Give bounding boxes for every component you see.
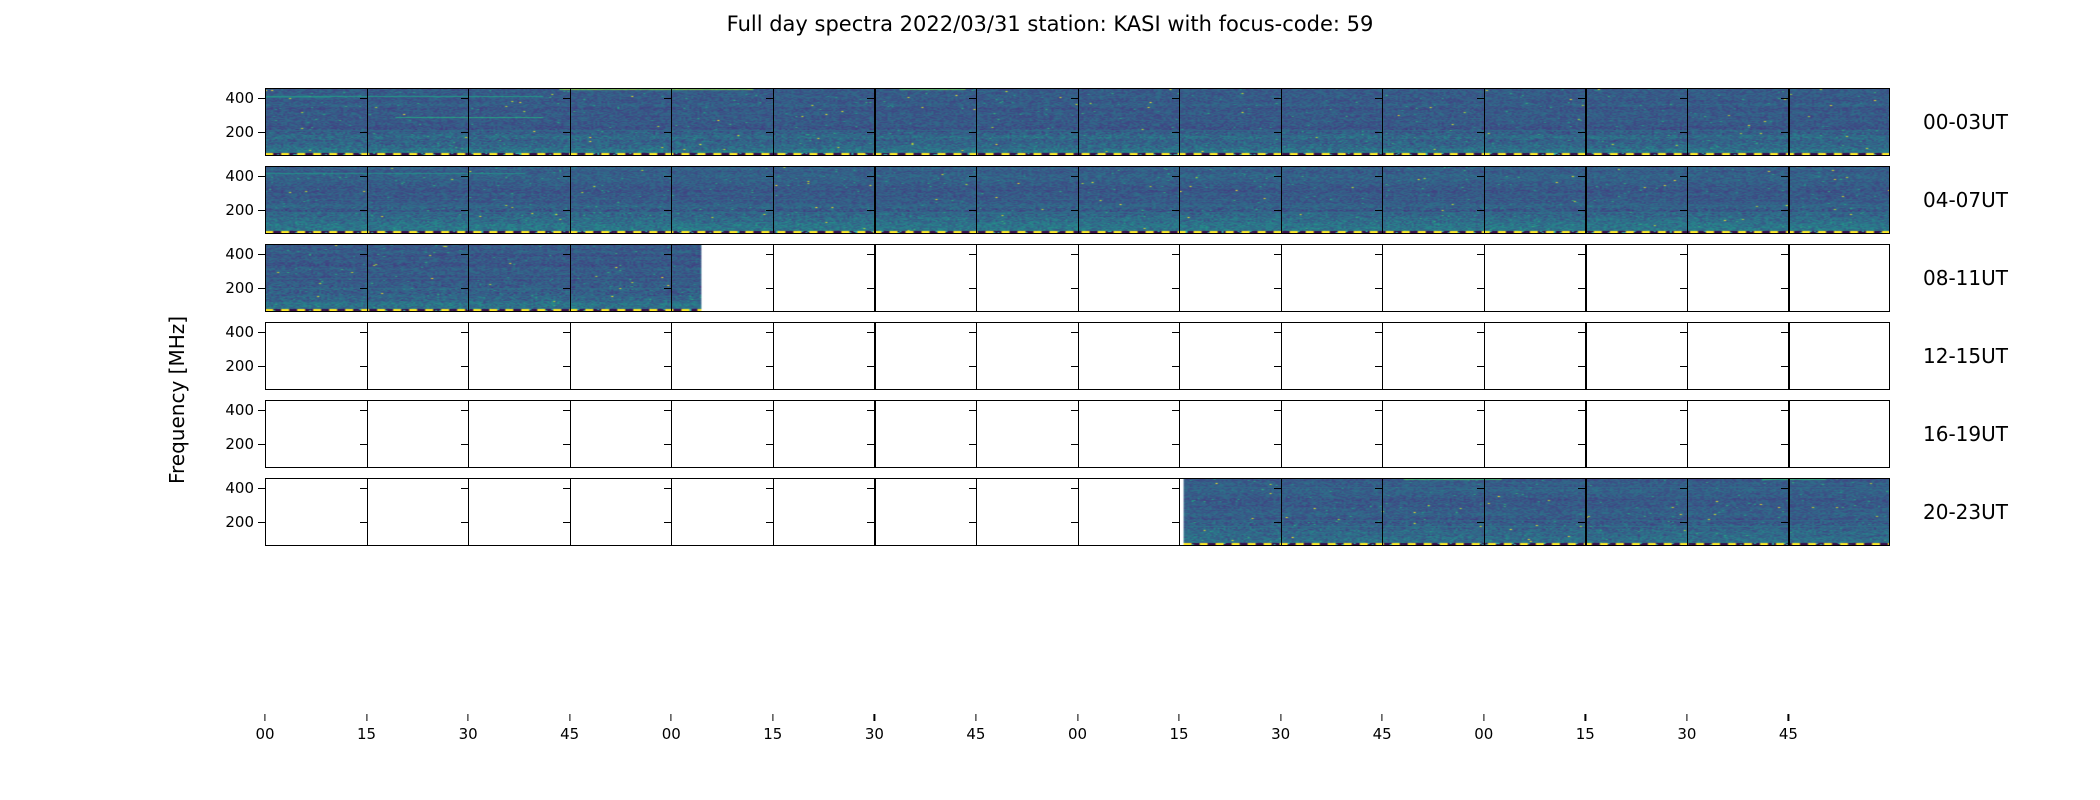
subpanel-separator (570, 478, 571, 546)
y-tick-label: 400 (225, 89, 254, 107)
y-tick-mark-inner (969, 410, 976, 411)
y-tick-mark-inner (1071, 488, 1078, 489)
y-tick-mark-inner (766, 444, 773, 445)
subpanel-separator (570, 88, 571, 156)
y-tick-mark-inner (867, 522, 874, 523)
y-tick-mark-inner (969, 132, 976, 133)
y-tick-mark-inner (1071, 210, 1078, 211)
y-tick-mark-inner (1375, 444, 1382, 445)
subpanel-separator (1078, 244, 1079, 312)
subpanel-separator (671, 88, 672, 156)
y-tick-mark-inner (1172, 488, 1179, 489)
y-tick-mark-inner (1477, 288, 1484, 289)
x-tick-mark (1077, 714, 1078, 721)
y-tick-mark-inner (1375, 254, 1382, 255)
subpanel-separator (1788, 244, 1789, 312)
x-tick-label: 30 (1677, 725, 1696, 743)
y-tick-mark-inner (1071, 254, 1078, 255)
x-tick-label: 30 (459, 725, 478, 743)
y-tick-mark-inner (1071, 176, 1078, 177)
x-tick-label: 15 (1170, 725, 1189, 743)
y-tick-mark-inner (1172, 444, 1179, 445)
subpanel-separator (367, 88, 368, 156)
y-tick-mark-inner (360, 288, 367, 289)
y-tick-mark-inner (766, 98, 773, 99)
y-tick-mark-inner (867, 132, 874, 133)
y-tick-mark-inner (1477, 410, 1484, 411)
row-time-label: 20-23UT (1923, 500, 2008, 524)
x-tick-label: 45 (966, 725, 985, 743)
y-tick-mark-inner (461, 132, 468, 133)
figure-title: Full day spectra 2022/03/31 station: KAS… (0, 12, 2100, 36)
y-tick-mark-inner (664, 332, 671, 333)
subpanel-separator (1382, 166, 1383, 234)
y-tick-mark-inner (1375, 410, 1382, 411)
y-tick-mark-inner (1375, 132, 1382, 133)
y-tick-mark-inner (563, 332, 570, 333)
x-tick-mark (1686, 714, 1687, 721)
x-tick-mark (1382, 714, 1383, 721)
y-tick-mark-inner (1172, 332, 1179, 333)
x-tick-mark (1788, 714, 1789, 721)
y-tick-mark-inner (360, 98, 367, 99)
y-tick-mark-inner (1274, 444, 1281, 445)
y-tick-mark (258, 410, 265, 411)
subpanel-separator (1281, 88, 1282, 156)
x-tick-label: 45 (1373, 725, 1392, 743)
y-tick-mark-inner (1071, 410, 1078, 411)
subpanel-separator (874, 244, 875, 312)
subpanel-separator (367, 400, 368, 468)
y-tick-label: 200 (225, 513, 254, 531)
x-tick-label: 00 (662, 725, 681, 743)
y-tick-mark-inner (1680, 488, 1687, 489)
x-tick-mark (1178, 714, 1179, 721)
subpanel-separator (1788, 322, 1789, 390)
subpanel-separator (1585, 88, 1586, 156)
y-tick-label: 400 (225, 323, 254, 341)
y-tick-mark-inner (1375, 522, 1382, 523)
subpanel-separator (1484, 478, 1485, 546)
y-tick-mark-inner (1172, 132, 1179, 133)
y-tick-mark-inner (969, 332, 976, 333)
subpanel-separator (1687, 322, 1688, 390)
y-tick-mark-inner (867, 444, 874, 445)
y-tick-mark-inner (867, 410, 874, 411)
subpanel-separator (1179, 244, 1180, 312)
y-tick-mark-inner (867, 488, 874, 489)
y-tick-mark-inner (1578, 210, 1585, 211)
y-tick-mark-inner (1071, 366, 1078, 367)
y-tick-mark-inner (563, 254, 570, 255)
y-tick-mark-inner (1578, 132, 1585, 133)
y-tick-mark-inner (1172, 210, 1179, 211)
y-tick-mark-inner (461, 176, 468, 177)
subpanel-separator (367, 166, 368, 234)
y-tick-mark-inner (563, 98, 570, 99)
y-tick-mark-inner (461, 210, 468, 211)
y-tick-mark-inner (461, 444, 468, 445)
subpanel-separator (1788, 400, 1789, 468)
y-tick-mark-inner (1781, 288, 1788, 289)
subpanel-separator (1484, 322, 1485, 390)
subpanel-separator (671, 400, 672, 468)
subpanel-separator (1179, 88, 1180, 156)
subpanel-separator (468, 166, 469, 234)
y-tick-mark-inner (461, 522, 468, 523)
y-tick-mark-inner (1680, 522, 1687, 523)
y-tick-mark-inner (1680, 366, 1687, 367)
subpanel-separator (874, 322, 875, 390)
spectrogram-row-08-11ut: 20040008-11UT (265, 244, 1890, 312)
y-tick-mark-inner (766, 332, 773, 333)
y-tick-mark-inner (1781, 98, 1788, 99)
subpanel-separator (1788, 166, 1789, 234)
x-tick-mark (671, 714, 672, 721)
y-tick-mark-inner (766, 176, 773, 177)
subpanel-separator (1687, 244, 1688, 312)
subpanel-separator (671, 478, 672, 546)
subpanel-separator (1484, 400, 1485, 468)
y-tick-mark-inner (1172, 254, 1179, 255)
y-tick-mark-inner (969, 98, 976, 99)
subpanel-separator (976, 322, 977, 390)
x-tick-label: 00 (1474, 725, 1493, 743)
subpanel-separator (1179, 478, 1180, 546)
y-tick-mark-inner (360, 410, 367, 411)
y-tick-mark-inner (867, 366, 874, 367)
subpanel-separator (1585, 400, 1586, 468)
y-tick-mark-inner (1781, 366, 1788, 367)
y-tick-mark-inner (1781, 410, 1788, 411)
y-tick-mark-inner (1578, 332, 1585, 333)
y-tick-mark (258, 132, 265, 133)
y-tick-mark-inner (1680, 444, 1687, 445)
x-tick-label: 00 (255, 725, 274, 743)
y-tick-mark-inner (461, 366, 468, 367)
y-tick-mark-inner (1274, 254, 1281, 255)
y-tick-mark-inner (1274, 366, 1281, 367)
subpanel-separator (773, 166, 774, 234)
subpanel-separator (1179, 166, 1180, 234)
subpanel-separator (1585, 478, 1586, 546)
x-tick-label: 45 (560, 725, 579, 743)
x-tick-mark (1585, 714, 1586, 721)
subpanel-separator (1484, 244, 1485, 312)
y-tick-mark-inner (461, 288, 468, 289)
row-time-label: 00-03UT (1923, 110, 2008, 134)
y-tick-mark-inner (1680, 98, 1687, 99)
x-tick-label: 15 (763, 725, 782, 743)
subpanel-separator (468, 478, 469, 546)
row-time-label: 16-19UT (1923, 422, 2008, 446)
y-tick-mark-inner (1274, 522, 1281, 523)
row-time-label: 08-11UT (1923, 266, 2008, 290)
subpanel-separator (1687, 166, 1688, 234)
subpanel-separator (468, 322, 469, 390)
y-tick-label: 400 (225, 479, 254, 497)
x-tick-label: 15 (1576, 725, 1595, 743)
subpanel-separator (874, 478, 875, 546)
y-tick-mark-inner (360, 444, 367, 445)
y-tick-mark-inner (664, 444, 671, 445)
y-tick-mark-inner (1578, 410, 1585, 411)
subpanel-separator (671, 166, 672, 234)
subpanel-separator (773, 88, 774, 156)
y-tick-mark-inner (969, 210, 976, 211)
y-tick-mark-inner (360, 366, 367, 367)
y-tick-mark-inner (664, 254, 671, 255)
y-tick-mark-inner (1477, 176, 1484, 177)
y-tick-mark-inner (563, 132, 570, 133)
y-tick-mark-inner (969, 254, 976, 255)
subpanel-separator (570, 400, 571, 468)
subpanel-separator (671, 244, 672, 312)
y-tick-mark-inner (1172, 98, 1179, 99)
subpanel-separator (367, 478, 368, 546)
y-tick-mark-inner (1578, 98, 1585, 99)
subpanel-separator (1281, 166, 1282, 234)
y-tick-mark-inner (1071, 98, 1078, 99)
y-tick-mark (258, 176, 265, 177)
y-tick-mark-inner (1477, 132, 1484, 133)
y-tick-mark-inner (1477, 522, 1484, 523)
y-tick-mark-inner (1680, 288, 1687, 289)
y-tick-mark-inner (461, 410, 468, 411)
y-tick-mark-inner (969, 176, 976, 177)
y-tick-mark-inner (1274, 210, 1281, 211)
y-tick-mark-inner (1578, 366, 1585, 367)
y-tick-mark (258, 210, 265, 211)
y-tick-mark-inner (563, 288, 570, 289)
y-tick-mark-inner (766, 488, 773, 489)
y-tick-mark (258, 98, 265, 99)
subpanel-separator (570, 166, 571, 234)
spectrogram-row-04-07ut: 20040004-07UT (265, 166, 1890, 234)
y-tick-mark-inner (1781, 210, 1788, 211)
y-tick-mark-inner (1375, 488, 1382, 489)
y-tick-mark-inner (867, 288, 874, 289)
y-tick-mark-inner (766, 522, 773, 523)
subpanel-separator (773, 244, 774, 312)
y-tick-mark-inner (664, 288, 671, 289)
y-tick-mark-inner (664, 366, 671, 367)
spectrogram-row-12-15ut: 20040012-15UT (265, 322, 1890, 390)
y-tick-mark-inner (1172, 176, 1179, 177)
subpanel-separator (976, 400, 977, 468)
y-tick-mark-inner (766, 210, 773, 211)
y-tick-mark-inner (1781, 254, 1788, 255)
y-tick-mark-inner (1781, 522, 1788, 523)
y-tick-mark-inner (461, 488, 468, 489)
y-tick-mark-inner (1477, 254, 1484, 255)
y-tick-mark-inner (969, 444, 976, 445)
y-tick-mark-inner (1477, 366, 1484, 367)
y-tick-mark-inner (867, 332, 874, 333)
y-tick-mark-inner (1071, 522, 1078, 523)
subpanel-separator (1585, 322, 1586, 390)
subpanel-separator (1687, 400, 1688, 468)
subpanel-separator (367, 322, 368, 390)
subpanel-separator (874, 166, 875, 234)
y-tick-mark-inner (360, 522, 367, 523)
spectrogram-row-00-03ut: 20040000-03UT (265, 88, 1890, 156)
y-tick-mark-inner (1781, 176, 1788, 177)
y-tick-mark-inner (969, 488, 976, 489)
y-tick-mark-inner (563, 210, 570, 211)
x-tick-mark (975, 714, 976, 721)
y-tick-mark (258, 522, 265, 523)
y-tick-mark-inner (360, 132, 367, 133)
subpanel-separator (1281, 478, 1282, 546)
subpanel-separator (976, 88, 977, 156)
subpanel-separator (773, 400, 774, 468)
y-tick-mark-inner (1477, 332, 1484, 333)
y-tick-mark (258, 254, 265, 255)
subpanel-separator (1788, 478, 1789, 546)
y-tick-mark-inner (1781, 444, 1788, 445)
y-tick-label: 200 (225, 279, 254, 297)
subpanel-separator (1179, 400, 1180, 468)
y-tick-mark-inner (1680, 254, 1687, 255)
y-axis-label: Frequency [MHz] (165, 316, 189, 484)
y-tick-mark-inner (1578, 254, 1585, 255)
subpanel-separator (874, 400, 875, 468)
y-tick-mark-inner (1071, 444, 1078, 445)
y-tick-mark-inner (1375, 332, 1382, 333)
y-tick-mark-inner (461, 98, 468, 99)
y-tick-mark-inner (969, 288, 976, 289)
y-tick-mark-inner (1274, 132, 1281, 133)
y-tick-mark-inner (1071, 288, 1078, 289)
y-tick-mark-inner (461, 254, 468, 255)
y-tick-mark-inner (1172, 522, 1179, 523)
subpanel-separator (773, 478, 774, 546)
y-tick-mark-inner (1274, 98, 1281, 99)
x-tick-label: 30 (1271, 725, 1290, 743)
y-tick-mark-inner (1172, 288, 1179, 289)
y-tick-mark-inner (664, 410, 671, 411)
y-tick-mark-inner (766, 132, 773, 133)
y-tick-mark-inner (1274, 410, 1281, 411)
subpanel-separator (1382, 322, 1383, 390)
subpanel-separator (976, 166, 977, 234)
subpanel-separator (874, 88, 875, 156)
y-tick-mark (258, 366, 265, 367)
y-tick-label: 200 (225, 201, 254, 219)
y-tick-mark-inner (1375, 210, 1382, 211)
x-tick-mark (772, 714, 773, 721)
y-tick-mark-inner (1071, 132, 1078, 133)
subpanel-separator (1788, 88, 1789, 156)
x-tick-label: 45 (1779, 725, 1798, 743)
y-tick-label: 200 (225, 435, 254, 453)
y-tick-mark-inner (664, 210, 671, 211)
y-tick-mark-inner (766, 288, 773, 289)
subpanel-separator (976, 244, 977, 312)
subpanel-separator (1078, 322, 1079, 390)
x-tick-label: 30 (865, 725, 884, 743)
subpanel-separator (1078, 166, 1079, 234)
x-tick-mark (1483, 714, 1484, 721)
y-tick-mark-inner (664, 522, 671, 523)
y-tick-mark-inner (563, 488, 570, 489)
spectrogram-row-20-23ut: 20040020-23UT (265, 478, 1890, 546)
y-tick-mark-inner (1578, 522, 1585, 523)
y-tick-mark-inner (563, 176, 570, 177)
y-tick-mark-inner (1274, 288, 1281, 289)
y-tick-mark-inner (1172, 366, 1179, 367)
y-tick-mark-inner (360, 332, 367, 333)
y-tick-mark-inner (664, 132, 671, 133)
y-tick-mark (258, 288, 265, 289)
subpanel-separator (1281, 244, 1282, 312)
y-tick-mark-inner (867, 176, 874, 177)
subpanel-separator (1281, 322, 1282, 390)
subpanel-separator (1687, 478, 1688, 546)
subpanel-separator (1179, 322, 1180, 390)
subpanel-separator (1382, 88, 1383, 156)
y-tick-mark-inner (1680, 332, 1687, 333)
x-tick-mark (468, 714, 469, 721)
subpanel-separator (468, 88, 469, 156)
y-tick-mark-inner (1578, 444, 1585, 445)
y-tick-mark-inner (563, 522, 570, 523)
subpanel-separator (367, 244, 368, 312)
y-tick-mark-inner (1375, 288, 1382, 289)
y-tick-mark-inner (1680, 132, 1687, 133)
y-tick-label: 400 (225, 401, 254, 419)
y-tick-mark-inner (1578, 288, 1585, 289)
x-tick-label: 15 (357, 725, 376, 743)
y-tick-mark-inner (563, 410, 570, 411)
subpanel-separator (1585, 244, 1586, 312)
y-tick-mark (258, 488, 265, 489)
y-tick-mark-inner (1578, 488, 1585, 489)
y-tick-mark-inner (1680, 176, 1687, 177)
y-tick-mark-inner (1274, 488, 1281, 489)
subpanel-separator (1382, 400, 1383, 468)
subpanel-separator (570, 244, 571, 312)
subpanel-separator (1281, 400, 1282, 468)
subpanel-separator (1484, 88, 1485, 156)
y-tick-mark-inner (360, 254, 367, 255)
y-tick-mark-inner (360, 488, 367, 489)
spectrogram-figure: Full day spectra 2022/03/31 station: KAS… (0, 0, 2100, 800)
y-tick-mark-inner (969, 366, 976, 367)
y-tick-mark-inner (1680, 210, 1687, 211)
y-tick-mark-inner (1375, 98, 1382, 99)
y-tick-mark-inner (1680, 410, 1687, 411)
y-tick-mark-inner (766, 366, 773, 367)
y-tick-label: 200 (225, 123, 254, 141)
y-tick-mark-inner (1477, 98, 1484, 99)
y-tick-mark-inner (1477, 210, 1484, 211)
y-tick-mark-inner (1477, 444, 1484, 445)
y-tick-mark-inner (766, 410, 773, 411)
y-tick-mark-inner (867, 98, 874, 99)
y-tick-label: 200 (225, 357, 254, 375)
x-tick-mark (264, 714, 265, 721)
y-tick-mark-inner (1477, 488, 1484, 489)
y-tick-label: 400 (225, 245, 254, 263)
subpanel-separator (1687, 88, 1688, 156)
y-tick-mark-inner (1375, 176, 1382, 177)
subpanel-separator (570, 322, 571, 390)
subpanel-separator (1382, 244, 1383, 312)
row-time-label: 04-07UT (1923, 188, 2008, 212)
x-tick-mark (1280, 714, 1281, 721)
